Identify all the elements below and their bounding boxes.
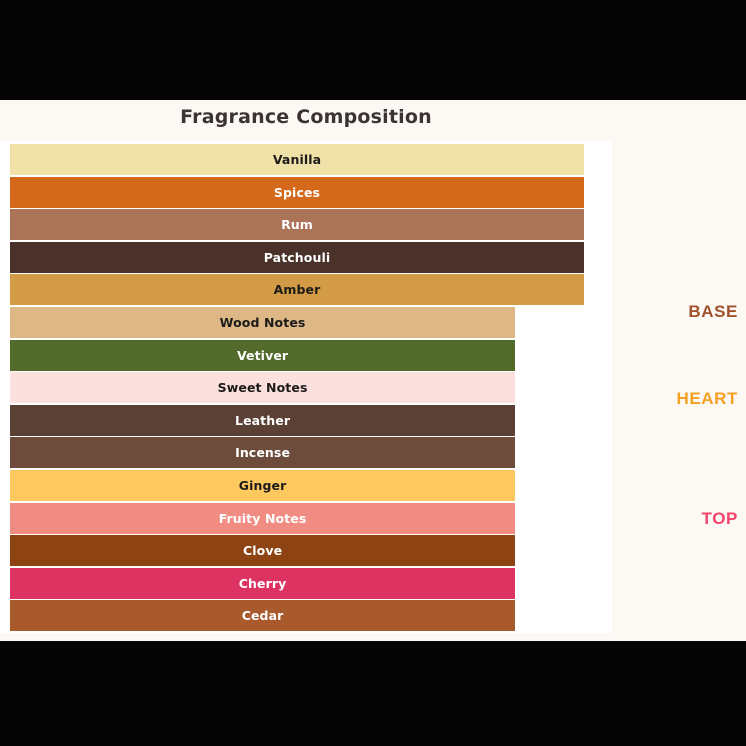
stage-label-top: TOP xyxy=(702,509,738,529)
bar-row[interactable]: Patchouli xyxy=(10,242,584,273)
bar-row[interactable]: Amber xyxy=(10,274,584,305)
bar-row[interactable]: Vanilla xyxy=(10,144,584,175)
bar-row[interactable]: Rum xyxy=(10,209,584,240)
bar-label: Vetiver xyxy=(237,348,288,363)
bar-label: Patchouli xyxy=(264,250,331,265)
stage-label-base: BASE xyxy=(688,302,738,322)
bar-row[interactable]: Cedar xyxy=(10,600,515,631)
chart-figure: Fragrance Composition VanillaSpicesRumPa… xyxy=(0,100,746,641)
page-title: Fragrance Composition xyxy=(0,106,612,128)
bar-row[interactable]: Vetiver xyxy=(10,340,515,371)
screenshot-root: Fragrance Composition VanillaSpicesRumPa… xyxy=(0,0,746,746)
bar-row[interactable]: Clove xyxy=(10,535,515,566)
bar-row[interactable]: Wood Notes xyxy=(10,307,515,338)
bar-row[interactable]: Leather xyxy=(10,405,515,436)
bar-row[interactable]: Cherry xyxy=(10,568,515,599)
bar-label: Rum xyxy=(281,217,313,232)
bar-label: Fruity Notes xyxy=(219,511,307,526)
bar-label: Amber xyxy=(274,282,321,297)
bar-row[interactable]: Sweet Notes xyxy=(10,372,515,403)
bar-label: Sweet Notes xyxy=(218,380,308,395)
bar-label: Incense xyxy=(235,445,290,460)
bar-label: Spices xyxy=(274,185,320,200)
bar-label: Ginger xyxy=(239,478,287,493)
bar-label: Cherry xyxy=(239,576,287,591)
bar-label: Cedar xyxy=(242,608,284,623)
bar-row[interactable]: Ginger xyxy=(10,470,515,501)
bar-row[interactable]: Incense xyxy=(10,437,515,468)
stage-label-heart: HEART xyxy=(676,389,738,409)
bar-label: Leather xyxy=(235,413,290,428)
bar-label: Clove xyxy=(243,543,282,558)
bar-label: Wood Notes xyxy=(220,315,306,330)
bar-row[interactable]: Fruity Notes xyxy=(10,503,515,534)
bar-row[interactable]: Spices xyxy=(10,177,584,208)
bar-label: Vanilla xyxy=(273,152,321,167)
